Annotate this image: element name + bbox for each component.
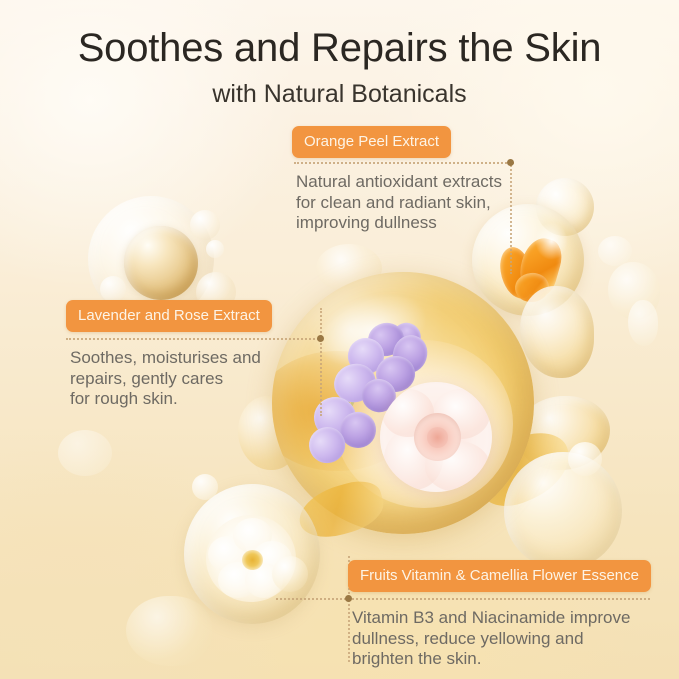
orange-droplet-highlight xyxy=(535,222,569,260)
connector-line-fruits-horizontal xyxy=(276,598,650,600)
upper-left-golden-sphere xyxy=(124,226,198,300)
callout-badge-fruits-camellia: Fruits Vitamin & Camellia Flower Essence xyxy=(348,560,651,592)
bottom-right-bubble xyxy=(504,452,622,570)
camellia-droplet xyxy=(184,484,320,624)
rose-center xyxy=(414,413,461,461)
camellia-droplet-bubble-side xyxy=(272,556,308,592)
callout-description-lavender-rose: Soothes, moisturises and repairs, gently… xyxy=(70,348,290,410)
page-subtitle: with Natural Botanicals xyxy=(0,80,679,109)
connector-line-lavender-vertical xyxy=(320,308,322,416)
connector-line-lavender-horizontal xyxy=(66,338,322,340)
camellia-droplet-bubble-small xyxy=(192,474,218,500)
connector-node-fruits xyxy=(345,595,352,602)
connector-node-orange-peel xyxy=(507,159,514,166)
callout-description-fruits-camellia: Vitamin B3 and Niacinamide improve dulln… xyxy=(352,608,652,670)
callout-badge-orange-peel: Orange Peel Extract xyxy=(292,126,451,158)
connector-node-lavender xyxy=(317,335,324,342)
upper-left-small-bubble-1 xyxy=(190,210,220,240)
upper-left-small-bubble-4 xyxy=(100,276,126,302)
page-title: Soothes and Repairs the Skin xyxy=(0,26,679,71)
rose-flower xyxy=(380,382,492,492)
bottom-right-small-bubble xyxy=(568,442,602,476)
upper-left-small-bubble-2 xyxy=(206,240,224,258)
right-edge-droplet-tail xyxy=(628,300,658,346)
connector-line-orange-peel-horizontal xyxy=(294,162,514,164)
bottom-left-droplet xyxy=(126,596,212,666)
left-edge-droplet xyxy=(58,430,112,476)
callout-description-orange-peel: Natural antioxidant extracts for clean a… xyxy=(296,172,516,234)
product-infographic-poster: Soothes and Repairs the Skin with Natura… xyxy=(0,0,679,679)
callout-badge-lavender-rose: Lavender and Rose Extract xyxy=(66,300,272,332)
